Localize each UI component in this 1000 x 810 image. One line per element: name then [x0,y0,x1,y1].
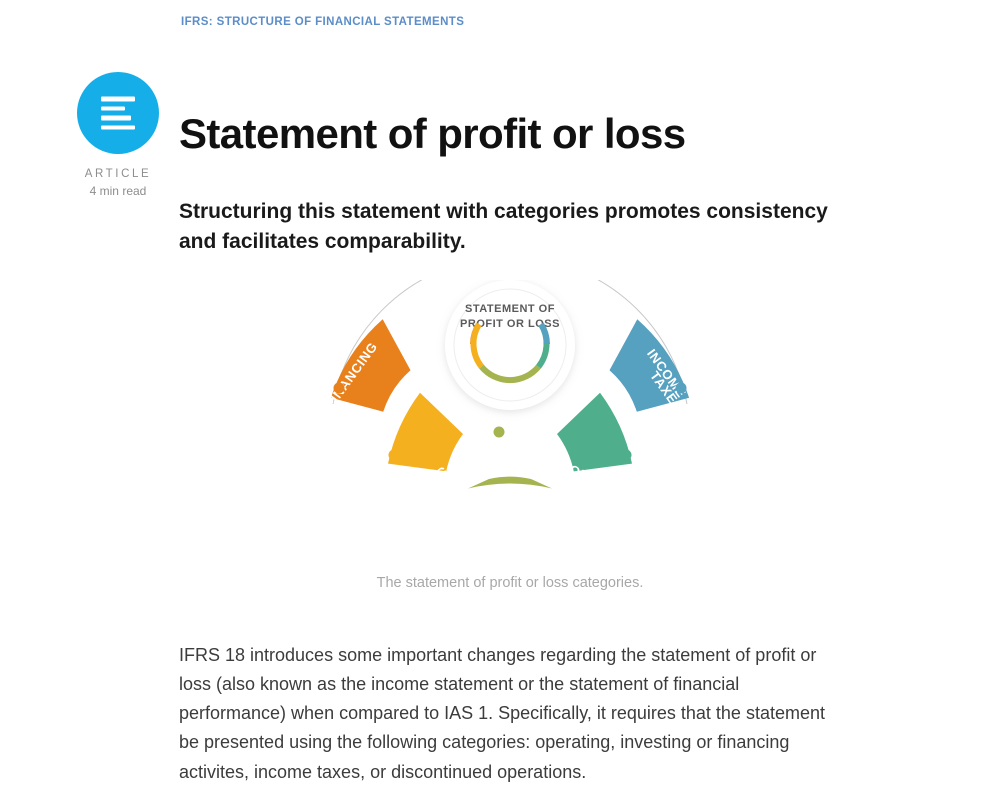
fan-diagram-svg: FINANCING INVESTING DISCONTINUED OPERATI… [255,280,765,610]
connector-dot-financing [334,383,345,394]
segment-label-discontinued-line2: OPERATIONS [469,526,551,538]
article-read-time: 4 min read [63,184,173,198]
article-meta-column: ARTICLE 4 min read [63,72,173,198]
article-subtitle: Structuring this statement with categori… [179,197,839,258]
segment-label-discontinued-line1: DISCONTINUED [462,511,558,523]
segment-label-investing: INVESTING [376,463,451,511]
segment-financing[interactable]: FINANCING [322,319,410,412]
connector-dot-income-taxes [676,383,687,394]
figure-caption: The statement of profit or loss categori… [255,575,765,591]
article-badge [77,72,159,154]
article-body: IFRS 18 introduces some important change… [179,641,844,787]
article-lines-icon [101,97,135,130]
segment-operating[interactable]: OPERATING [557,393,647,513]
article-kind-label: ARTICLE [63,168,173,180]
page-title: Statement of profit or loss [179,110,686,158]
profit-loss-fan-diagram: FINANCING INVESTING DISCONTINUED OPERATI… [255,280,765,610]
connector-dot-operating [621,450,632,461]
breadcrumb[interactable]: IFRS: STRUCTURE OF FINANCIAL STATEMENTS [181,16,464,28]
center-label-line1: STATEMENT OF [465,303,555,315]
segment-income-taxes[interactable]: INCOME TAXES [610,319,690,414]
connector-dot-discontinued [494,427,505,438]
connector-dot-investing [389,450,400,461]
segment-investing[interactable]: INVESTING [376,393,463,511]
segment-label-operating: OPERATING [567,462,647,513]
segment-discontinued-operations[interactable]: DISCONTINUED OPERATIONS [462,477,558,538]
